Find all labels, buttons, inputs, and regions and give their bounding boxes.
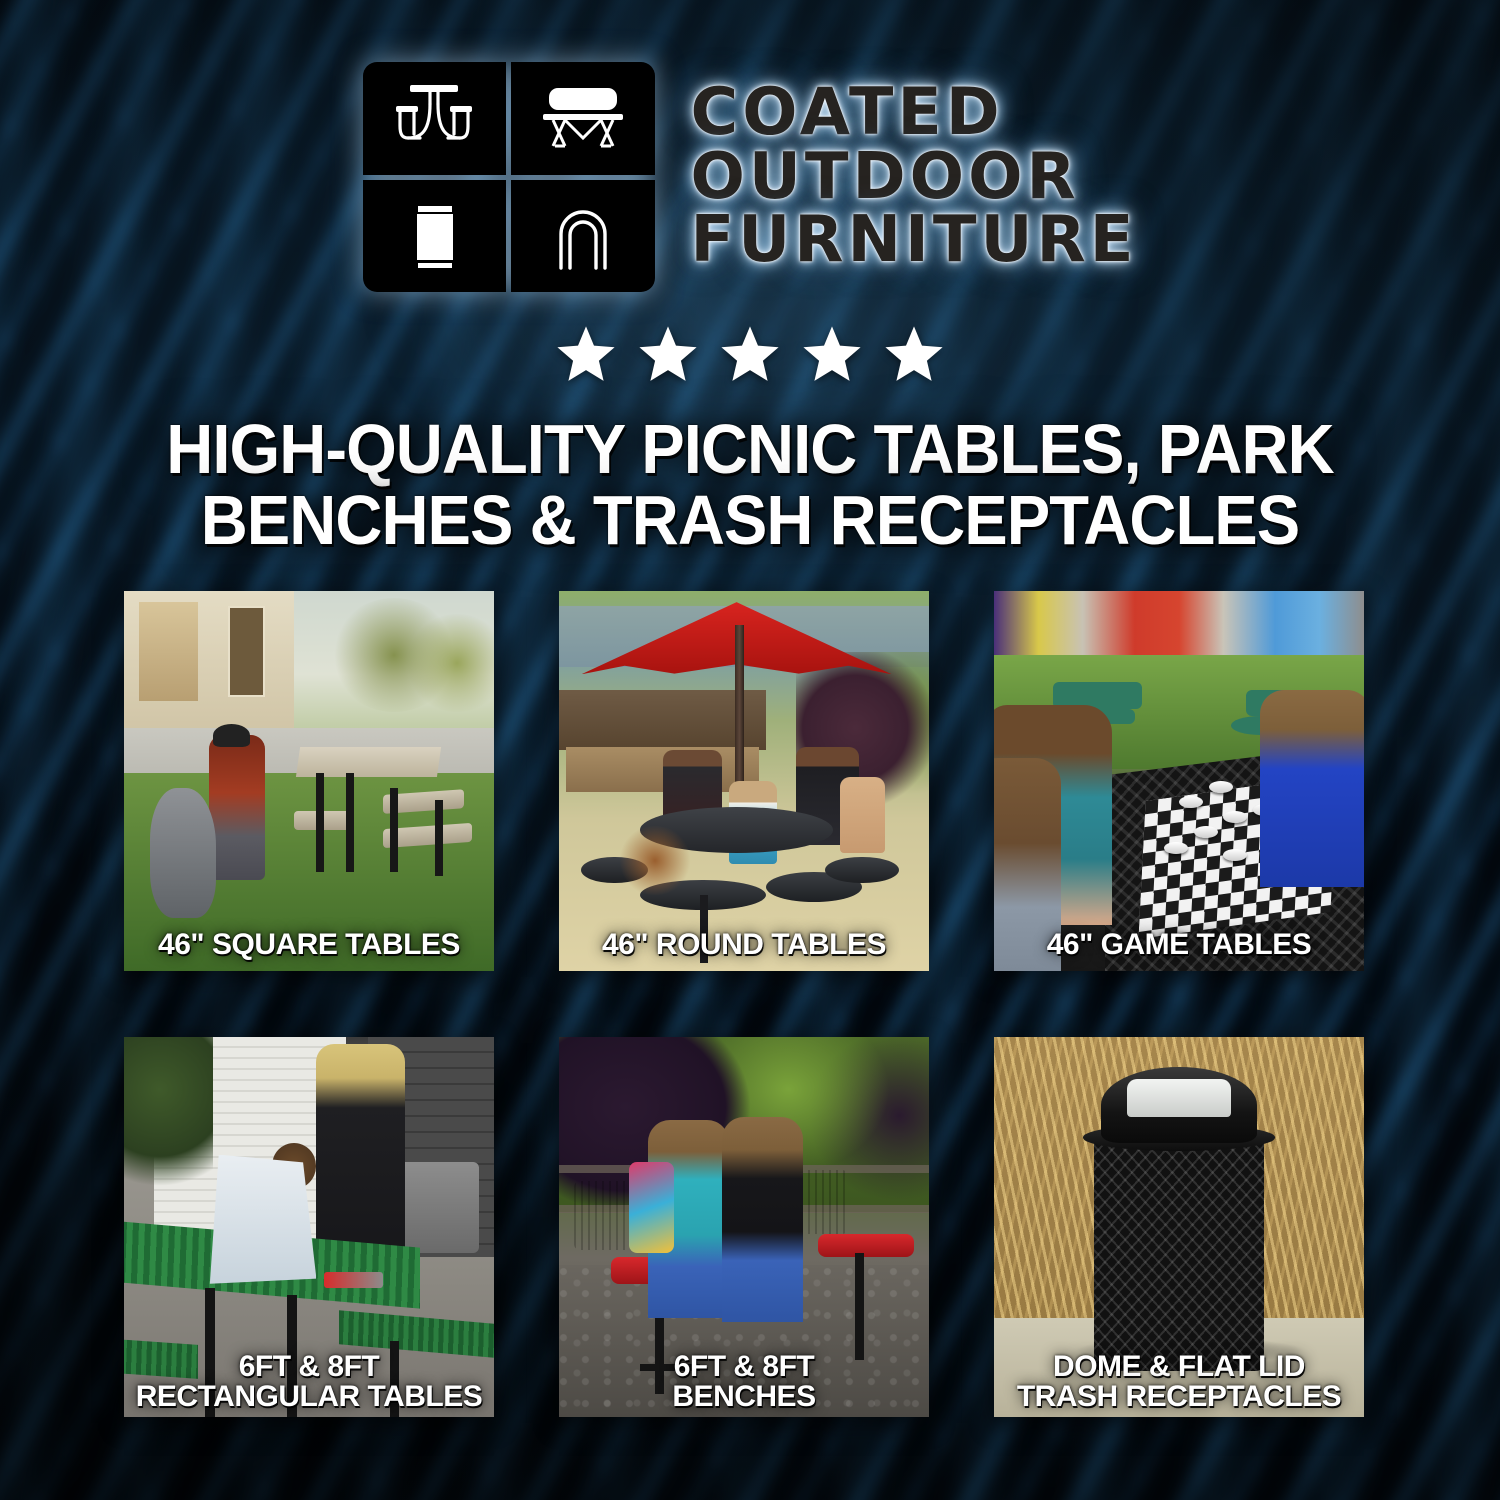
product-card-benches[interactable]: 6FT & 8FT BENCHES <box>559 1037 929 1417</box>
star-icon <box>880 322 948 388</box>
star-icon <box>716 322 784 388</box>
headline-line-1: HIGH-QUALITY PICNIC TABLES, PARK <box>146 414 1355 485</box>
caption-line-1: 46" GAME TABLES <box>994 930 1364 961</box>
product-card-game-tables[interactable]: 46" GAME TABLES <box>994 591 1364 971</box>
product-grid: 46" SQUARE TABLES <box>124 591 1376 1417</box>
product-caption-benches: 6FT & 8FT BENCHES <box>559 1352 929 1413</box>
caption-line-1: 46" ROUND TABLES <box>559 930 929 961</box>
product-caption-rectangular-tables: 6FT & 8FT RECTANGULAR TABLES <box>124 1352 494 1413</box>
trash-receptacle-icon <box>363 180 507 293</box>
product-photo-game-tables <box>994 591 1364 971</box>
product-caption-round-tables: 46" ROUND TABLES <box>559 930 929 961</box>
caption-line-2: BENCHES <box>559 1382 929 1413</box>
product-caption-game-tables: 46" GAME TABLES <box>994 930 1364 961</box>
brand-line-3: FURNITURE <box>691 209 1138 272</box>
brand-line-1: COATED <box>691 81 1138 145</box>
headline-line-2: BENCHES & TRASH RECEPTACLES <box>146 485 1355 556</box>
caption-line-2: RECTANGULAR TABLES <box>124 1382 494 1413</box>
brand-header: COATED OUTDOOR FURNITURE <box>363 62 1138 292</box>
page-title: HIGH-QUALITY PICNIC TABLES, PARK BENCHES… <box>146 414 1355 557</box>
product-card-trash-receptacles[interactable]: DOME & FLAT LID TRASH RECEPTACLES <box>994 1037 1364 1417</box>
product-caption-trash-receptacles: DOME & FLAT LID TRASH RECEPTACLES <box>994 1352 1364 1413</box>
caption-line-1: 6FT & 8FT <box>559 1352 929 1383</box>
product-caption-square-tables: 46" SQUARE TABLES <box>124 930 494 961</box>
brand-logo <box>363 62 655 292</box>
dome-lid-icon <box>511 180 655 293</box>
brand-wordmark: COATED OUTDOOR FURNITURE <box>691 81 1138 272</box>
promo-poster: COATED OUTDOOR FURNITURE HIGH-QUALITY PI… <box>0 0 1500 1500</box>
product-card-rectangular-tables[interactable]: 6FT & 8FT RECTANGULAR TABLES <box>124 1037 494 1417</box>
product-card-square-tables[interactable]: 46" SQUARE TABLES <box>124 591 494 971</box>
product-photo-round-tables <box>559 591 929 971</box>
product-card-round-tables[interactable]: 46" ROUND TABLES <box>559 591 929 971</box>
product-photo-square-tables <box>124 591 494 971</box>
caption-line-1: 46" SQUARE TABLES <box>124 930 494 961</box>
star-icon <box>634 322 702 388</box>
star-icon <box>798 322 866 388</box>
caption-line-1: 6FT & 8FT <box>124 1352 494 1383</box>
picnic-table-icon <box>363 62 507 175</box>
park-bench-icon <box>511 62 655 175</box>
caption-line-2: TRASH RECEPTACLES <box>994 1382 1364 1413</box>
star-rating <box>552 322 948 388</box>
star-icon <box>552 322 620 388</box>
caption-line-1: DOME & FLAT LID <box>994 1352 1364 1383</box>
brand-line-2: OUTDOOR <box>691 146 1138 209</box>
